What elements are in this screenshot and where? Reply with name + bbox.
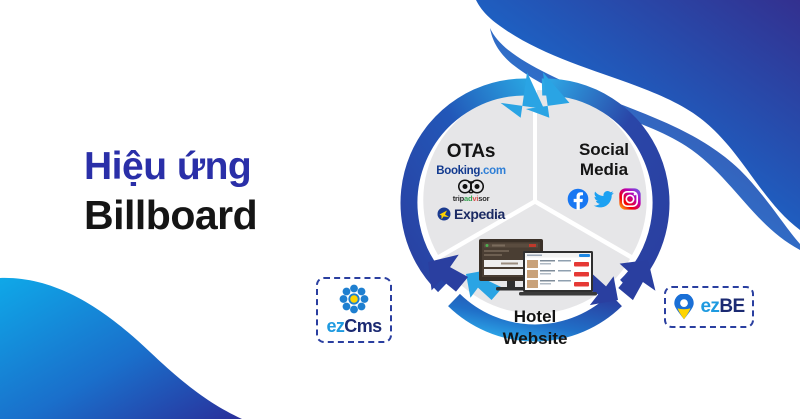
ezcms-name: Cms	[344, 316, 381, 336]
otas-label: OTAs	[408, 141, 534, 163]
segment-social-media: Social Media	[552, 140, 656, 210]
segment-hotel-website: Hotel Website	[470, 238, 600, 350]
tripadvisor-logo: tripadvisor	[408, 179, 534, 203]
ezbe-wordmark: ezBE	[700, 296, 744, 318]
hotel-label-line-2: Website	[470, 329, 600, 349]
tripadvisor-owl-icon	[458, 179, 484, 194]
location-pin-icon	[673, 294, 695, 320]
ezcms-prefix: ez	[326, 316, 344, 336]
ezcms-badge[interactable]: ezCms	[316, 277, 392, 343]
hotel-label-line-1: Hotel	[470, 307, 600, 327]
flower-icon	[339, 284, 369, 314]
devices-illustration	[470, 238, 600, 300]
expedia-logo: Expedia	[408, 206, 534, 222]
ezbe-prefix: ez	[700, 296, 719, 317]
headline-line-2: Billboard	[84, 192, 364, 239]
social-icon-row	[552, 188, 656, 210]
tripadvisor-wordmark: tripadvisor	[408, 195, 534, 203]
social-label-line-1: Social	[552, 140, 656, 160]
twitter-icon[interactable]	[593, 188, 615, 210]
facebook-icon[interactable]	[567, 188, 589, 210]
ezbe-name: BE	[719, 296, 744, 317]
booking-com-logo: Booking.com	[408, 165, 534, 177]
instagram-icon[interactable]	[619, 188, 641, 210]
ezcms-wordmark: ezCms	[326, 316, 381, 337]
booking-com-secondary: .com	[480, 165, 506, 177]
booking-com-primary: Booking	[436, 165, 480, 177]
laptop-illustration	[519, 251, 597, 296]
poster-canvas: Hiệu ứng Billboard	[0, 0, 800, 419]
ezbe-badge[interactable]: ezBE	[664, 286, 754, 328]
expedia-wordmark: Expedia	[454, 206, 505, 222]
bottom-left-swoosh-shape	[0, 278, 242, 419]
expedia-globe-icon	[437, 207, 451, 221]
segment-otas: OTAs Booking.com tripadvisor Expedia	[408, 141, 534, 222]
headline-line-1: Hiệu ứng	[84, 146, 364, 188]
headline: Hiệu ứng Billboard	[84, 146, 364, 239]
social-label-line-2: Media	[552, 160, 656, 180]
